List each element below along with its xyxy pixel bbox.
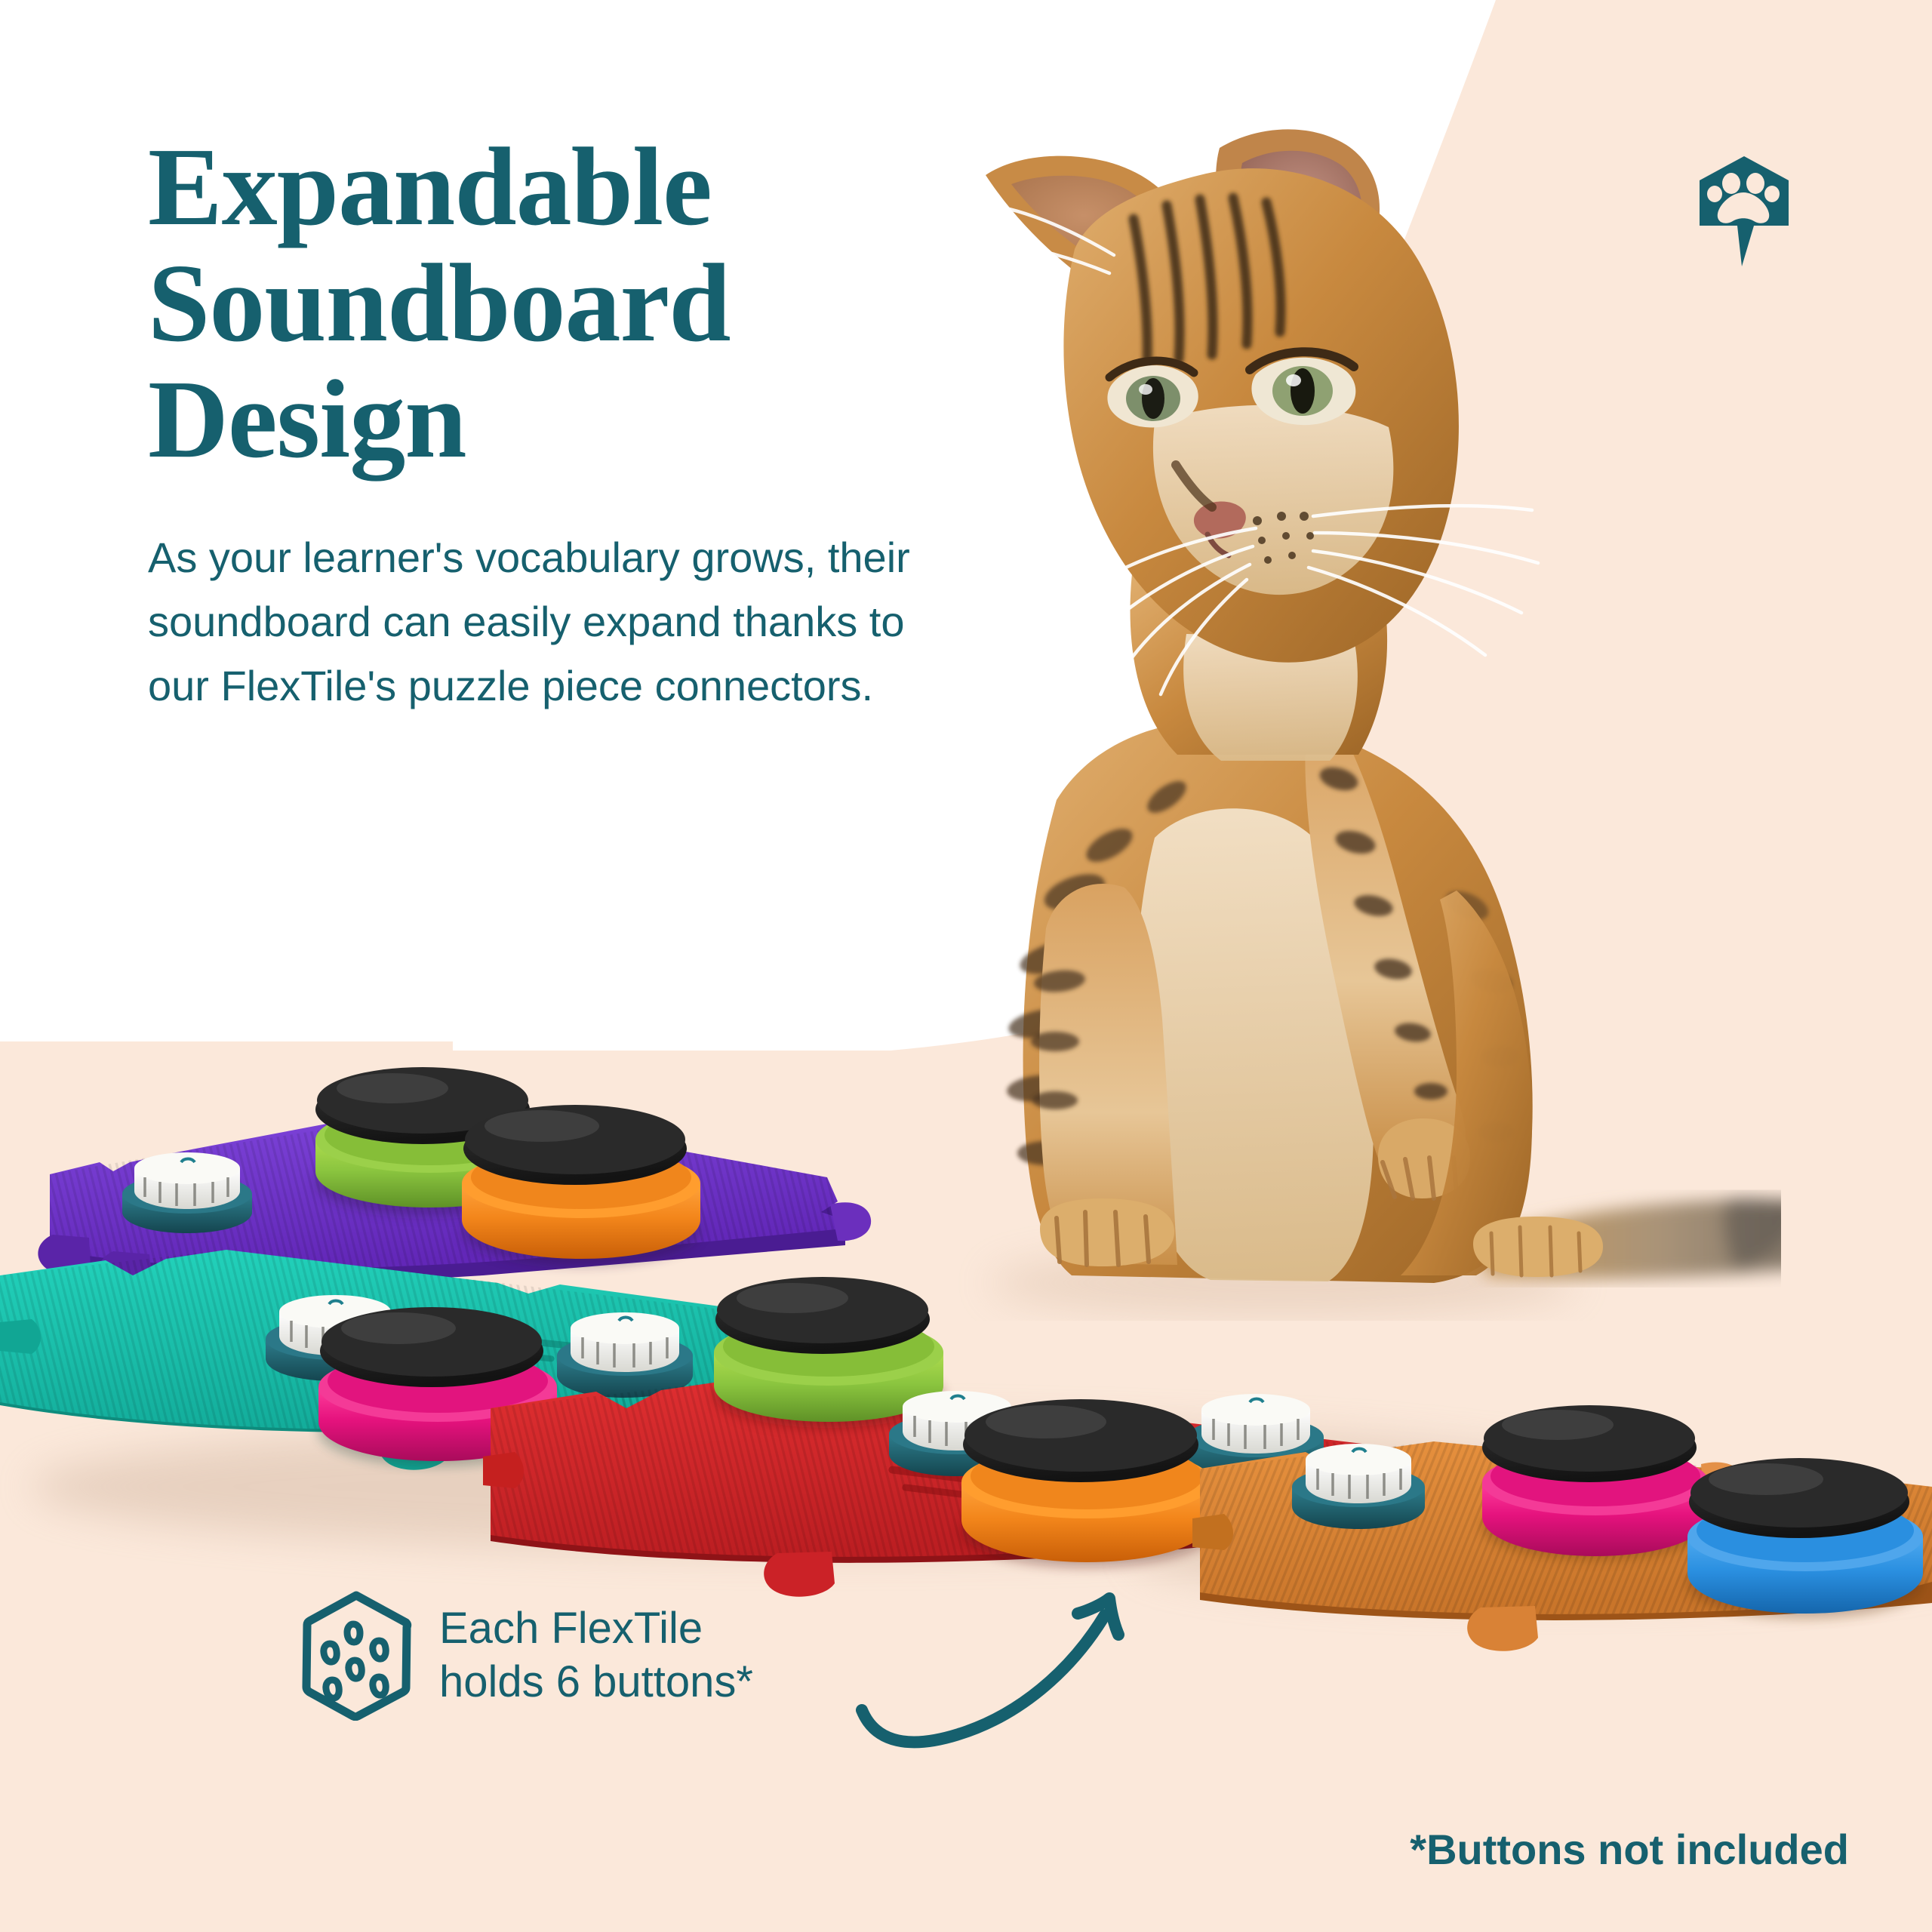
- headline-line-1: Expandable: [148, 130, 993, 246]
- curved-arrow-up-right-icon: [845, 1582, 1162, 1846]
- copy-block: Expandable Soundboard Design As your lea…: [148, 130, 993, 718]
- marketing-image: Expandable Soundboard Design As your lea…: [0, 0, 1932, 1932]
- footnote: *Buttons not included: [1410, 1825, 1849, 1874]
- paw-speech-bubble-icon: [1695, 155, 1793, 268]
- body-paragraph: As your learner's vocabulary grows, thei…: [148, 525, 948, 718]
- headline-line-2: Soundboard: [148, 246, 993, 362]
- flextile-callout: Each FlexTile holds 6 buttons*: [300, 1591, 753, 1721]
- headline-line-3: Design: [148, 362, 993, 478]
- page-title: Expandable Soundboard Design: [148, 130, 993, 478]
- callout-label: Each FlexTile holds 6 buttons*: [439, 1602, 753, 1709]
- hexagon-six-dots-icon: [300, 1591, 412, 1721]
